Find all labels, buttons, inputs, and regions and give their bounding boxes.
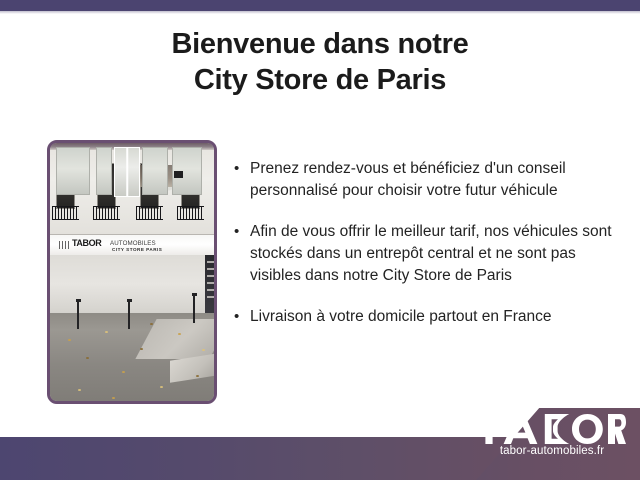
top-accent-bar bbox=[0, 0, 640, 11]
photo-sign-subtitle: CITY STORE PARIS bbox=[112, 247, 162, 252]
photo-leaf bbox=[202, 349, 205, 351]
photo-side-panel bbox=[205, 255, 214, 315]
brand-logo: tabor-automobiles.fr bbox=[474, 414, 630, 458]
storefront-photo-image: TABOR AUTOMOBILES CITY STORE PARIS bbox=[50, 143, 214, 401]
photo-shopfront bbox=[50, 255, 214, 313]
photo-sign-pattern-icon bbox=[59, 241, 70, 249]
bullet-marker-icon: • bbox=[234, 306, 239, 328]
storefront-photo: TABOR AUTOMOBILES CITY STORE PARIS bbox=[47, 140, 217, 404]
bullet-marker-icon: • bbox=[234, 221, 239, 243]
top-accent-bar-shadow bbox=[0, 11, 640, 14]
page-title-line-1: Bienvenue dans notre bbox=[0, 26, 640, 62]
photo-bollard bbox=[128, 301, 130, 329]
photo-shop-sign: TABOR AUTOMOBILES CITY STORE PARIS bbox=[50, 234, 214, 257]
photo-bollard bbox=[77, 301, 79, 329]
photo-shop-window bbox=[142, 147, 168, 195]
photo-leaf bbox=[140, 348, 143, 350]
photo-leaf bbox=[105, 331, 108, 333]
photo-shop-window bbox=[96, 147, 112, 195]
photo-balcony-railing bbox=[177, 206, 204, 220]
photo-leaf bbox=[86, 357, 89, 359]
slide: Bienvenue dans notre City Store de Paris… bbox=[0, 0, 640, 480]
photo-leaf bbox=[112, 397, 115, 399]
photo-leaf bbox=[122, 371, 125, 373]
list-item-text: Prenez rendez-vous et bénéficiez d'un co… bbox=[250, 158, 624, 202]
tabor-wordmark-icon bbox=[474, 414, 626, 444]
photo-interior-monitor bbox=[174, 171, 183, 178]
page-title-line-2: City Store de Paris bbox=[0, 62, 640, 98]
page-title: Bienvenue dans notre City Store de Paris bbox=[0, 26, 640, 98]
photo-bollard bbox=[193, 295, 195, 323]
photo-leaf bbox=[78, 389, 81, 391]
photo-leaf bbox=[150, 323, 153, 325]
website-url: tabor-automobiles.fr bbox=[474, 445, 630, 458]
photo-shop-door bbox=[114, 147, 140, 197]
photo-leaf bbox=[160, 386, 163, 388]
list-item-text: Afin de vous offrir le meilleur tarif, n… bbox=[250, 221, 624, 287]
photo-leaf bbox=[196, 375, 199, 377]
photo-balcony-railing bbox=[136, 206, 163, 220]
photo-balcony-railing bbox=[52, 206, 79, 220]
photo-leaf bbox=[68, 339, 71, 341]
list-item: • Prenez rendez-vous et bénéficiez d'un … bbox=[232, 158, 624, 202]
photo-sign-logo: TABOR bbox=[72, 239, 101, 248]
photo-balcony-railing bbox=[93, 206, 120, 220]
bullet-list: • Prenez rendez-vous et bénéficiez d'un … bbox=[232, 158, 624, 347]
bullet-marker-icon: • bbox=[234, 158, 239, 180]
list-item-text: Livraison à votre domicile partout en Fr… bbox=[250, 306, 624, 328]
photo-leaf bbox=[178, 333, 181, 335]
list-item: • Afin de vous offrir le meilleur tarif,… bbox=[232, 221, 624, 287]
list-item: • Livraison à votre domicile partout en … bbox=[232, 306, 624, 328]
photo-shop-window bbox=[56, 147, 90, 195]
